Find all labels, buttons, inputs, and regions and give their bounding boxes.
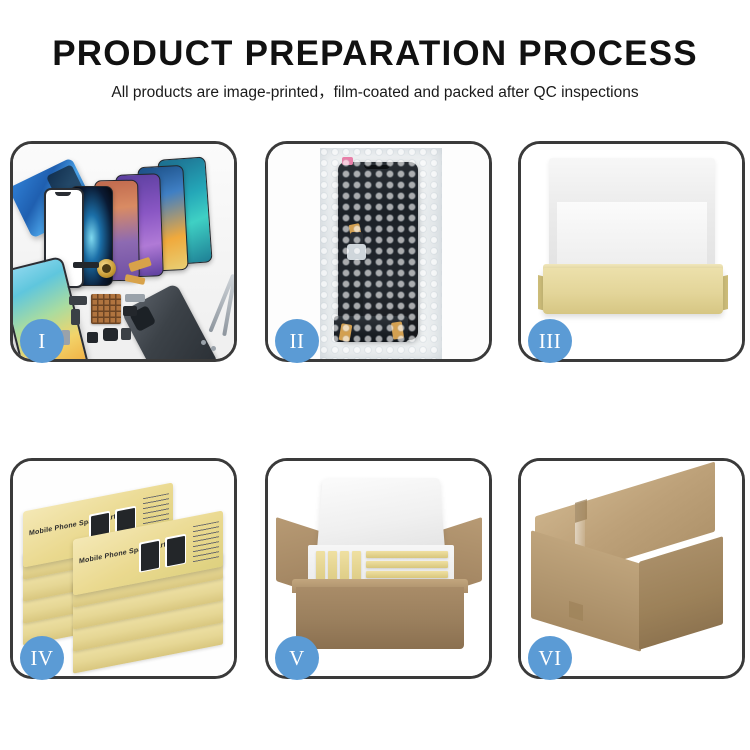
step-panel-1: I <box>10 141 237 362</box>
bracket-part-3 <box>125 294 145 302</box>
step-panel-4: Mobile Phone Spare Parts Mobile Phone Sp… <box>10 458 237 679</box>
copper-coil-part <box>97 259 116 278</box>
carton-body <box>296 587 464 649</box>
bracket-part-2 <box>71 309 80 325</box>
page-title: PRODUCT PREPARATION PROCESS <box>0 0 750 73</box>
chip-grid-part <box>91 294 121 324</box>
screw-block-part <box>121 328 131 340</box>
header: PRODUCT PREPARATION PROCESS All products… <box>0 0 750 102</box>
yellow-inner-box <box>543 268 723 314</box>
steps-grid: I <box>0 141 750 721</box>
step-badge-1: I <box>20 319 64 363</box>
step-panel-3: III <box>518 141 745 362</box>
step-badge-6: VI <box>528 636 572 680</box>
box-spec-lines-front <box>193 521 219 562</box>
foam-lid-open <box>317 478 445 549</box>
taptic-part <box>103 328 118 341</box>
foam-sheet-lid <box>549 158 715 274</box>
bubble-wrap-bag <box>320 148 442 359</box>
bracket-part-1 <box>69 296 87 305</box>
step-badge-4: IV <box>20 636 64 680</box>
carton-tape-top <box>575 499 587 523</box>
page-subtitle: All products are image-printed，film-coat… <box>0 73 750 102</box>
screw-part-1 <box>201 340 206 345</box>
step-badge-3: III <box>528 319 572 363</box>
step-badge-2: II <box>275 319 319 363</box>
screw-part-2 <box>211 346 216 351</box>
step-panel-5: V <box>265 458 492 679</box>
step-panel-2: II <box>265 141 492 362</box>
speaker-part <box>73 262 99 268</box>
small-chip-part <box>87 332 98 343</box>
product-preparation-infographic: PRODUCT PREPARATION PROCESS All products… <box>0 0 750 750</box>
step-panel-6: VI <box>518 458 745 679</box>
step-badge-5: V <box>275 636 319 680</box>
bubble-texture <box>320 148 442 359</box>
camera-module-part <box>123 306 137 316</box>
